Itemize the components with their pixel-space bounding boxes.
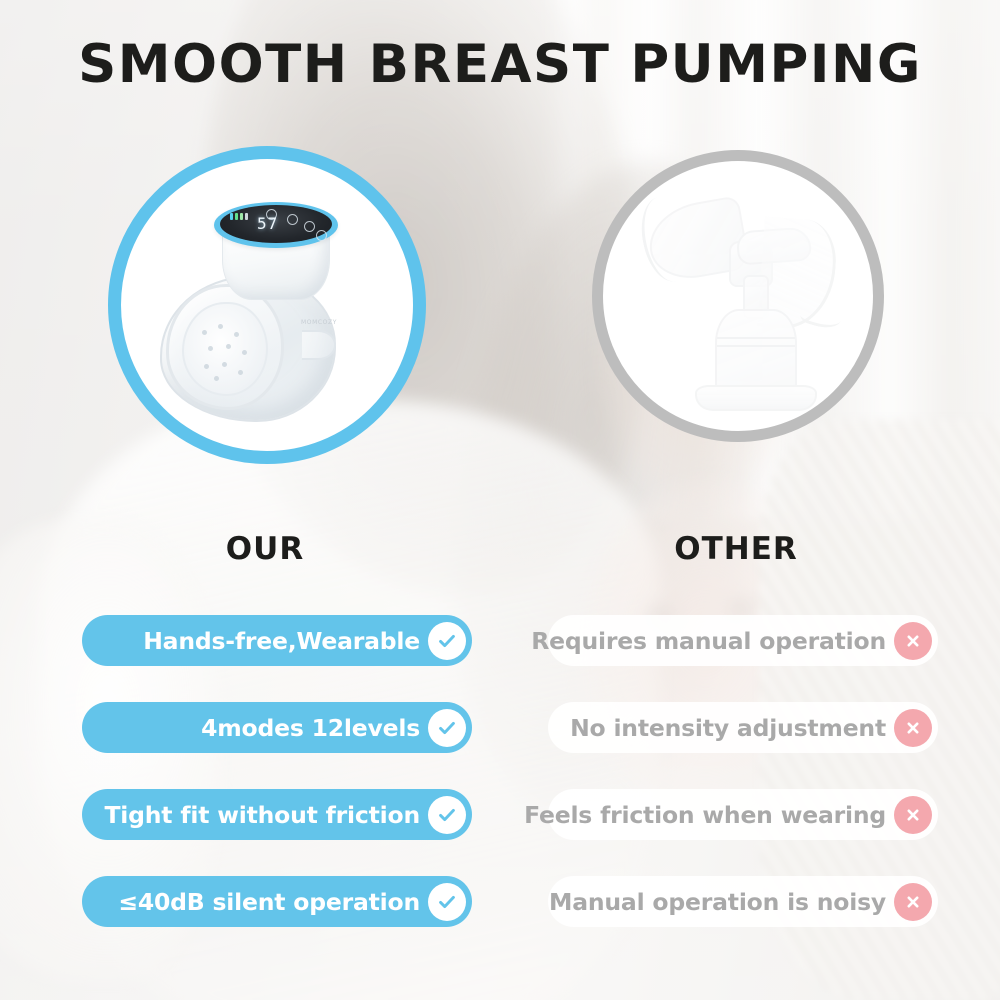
feature-pill-our[interactable]: Tight fit without friction: [82, 789, 472, 840]
product-circle-our: MOMCOZY 57: [108, 146, 426, 464]
x-icon: [894, 796, 932, 834]
feature-label: ≤40dB silent operation: [118, 888, 420, 916]
feature-label: 4modes 12levels: [201, 714, 420, 742]
background-photo: [0, 0, 1000, 1000]
x-icon: [894, 622, 932, 660]
page-title: SMOOTH BREAST PUMPING: [0, 34, 1000, 95]
column-label-other: OTHER: [674, 531, 798, 567]
manual-pump-illustration: [633, 179, 843, 414]
feature-label: Tight fit without friction: [104, 801, 420, 829]
feature-pill-other[interactable]: Manual operation is noisy: [548, 876, 938, 927]
pump-mode-icon: [287, 214, 298, 225]
check-icon: [428, 622, 466, 660]
column-label-our: OUR: [226, 531, 304, 567]
check-icon: [428, 796, 466, 834]
wearable-pump-illustration: MOMCOZY 57: [152, 180, 382, 430]
check-icon: [428, 883, 466, 921]
check-icon: [428, 709, 466, 747]
feature-label: Hands-free,Wearable: [143, 627, 420, 655]
feature-pill-other[interactable]: Feels friction when wearing: [548, 789, 938, 840]
pump-shield-dots: [196, 320, 254, 382]
pump-brand-mark: MOMCOZY: [301, 319, 337, 326]
feature-label: Feels friction when wearing: [524, 801, 886, 829]
x-icon: [894, 709, 932, 747]
x-icon: [894, 883, 932, 921]
feature-pill-our[interactable]: 4modes 12levels: [82, 702, 472, 753]
pump-display-value: 57: [257, 214, 278, 233]
pump-battery-bars: [230, 213, 248, 220]
feature-label: Requires manual operation: [531, 627, 886, 655]
manual-handle-tip: [799, 301, 843, 331]
pump-spout: [302, 330, 336, 360]
manual-bottle: [715, 309, 797, 393]
manual-bottle-ring: [717, 337, 795, 347]
feature-pill-our[interactable]: ≤40dB silent operation: [82, 876, 472, 927]
manual-base: [695, 385, 817, 411]
feature-label: Manual operation is noisy: [549, 888, 886, 916]
product-circle-other: [592, 150, 884, 442]
pump-plus-icon: [304, 221, 315, 232]
feature-label: No intensity adjustment: [570, 714, 886, 742]
feature-pill-our[interactable]: Hands-free,Wearable: [82, 615, 472, 666]
feature-pill-other[interactable]: Requires manual operation: [548, 615, 938, 666]
feature-pill-other[interactable]: No intensity adjustment: [548, 702, 938, 753]
pump-timer-icon: [316, 230, 327, 241]
background-white-veil: [0, 0, 1000, 1000]
